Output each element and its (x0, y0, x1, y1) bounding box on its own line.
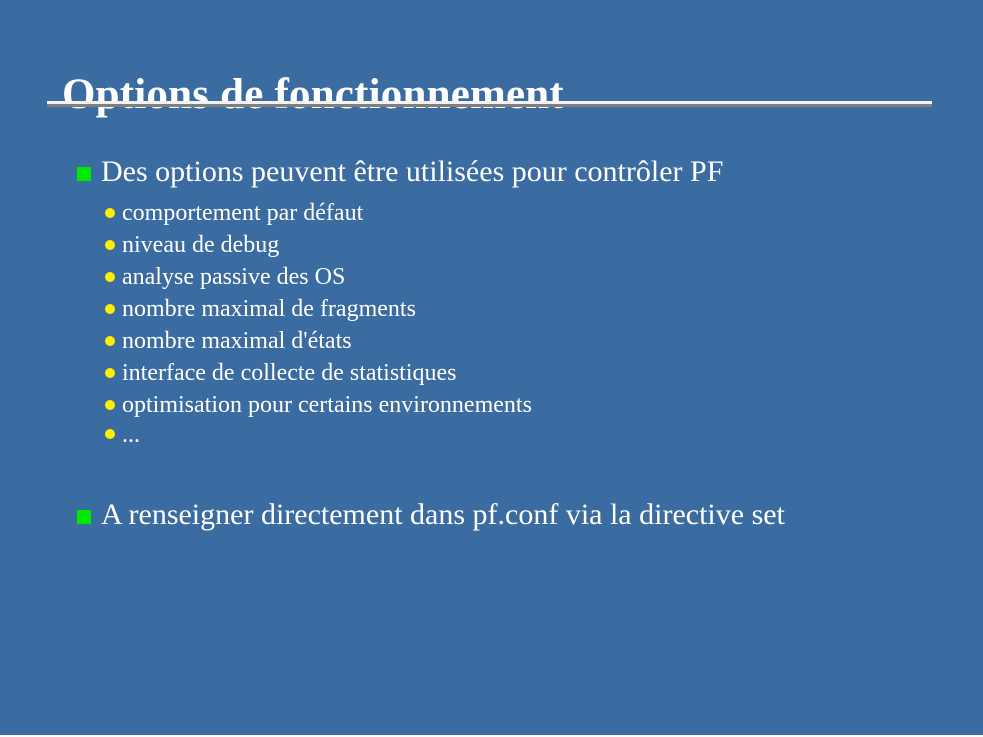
dot-bullet-icon (105, 429, 115, 439)
level2-bullet-text: nombre maximal d'états (122, 325, 983, 357)
list-item: analyse passive des OS (0, 261, 983, 293)
level2-bullet-text: ... (122, 421, 983, 449)
dot-bullet-icon (105, 240, 115, 250)
level1-bullet-item: Des options peuvent être utilisées pour … (0, 148, 983, 195)
content-block: Des options peuvent être utilisées pour … (0, 148, 983, 449)
level2-bullet-list: comportement par défaut niveau de debug … (0, 197, 983, 449)
level2-bullet-text: nombre maximal de fragments (122, 293, 983, 325)
level1-bullet-text: A renseigner directement dans pf.conf vi… (101, 491, 893, 538)
list-item: niveau de debug (0, 229, 983, 261)
list-item: nombre maximal de fragments (0, 293, 983, 325)
title-divider (47, 101, 932, 107)
dot-bullet-icon (105, 208, 115, 218)
slide: Options de fonctionnement Des options pe… (0, 0, 983, 737)
square-bullet-icon (77, 167, 91, 181)
level2-bullet-text: analyse passive des OS (122, 261, 983, 293)
dot-bullet-icon (105, 304, 115, 314)
page-title: Options de fonctionnement (62, 73, 564, 116)
square-bullet-icon (77, 510, 91, 524)
level1-bullet-text: Des options peuvent être utilisées pour … (101, 148, 893, 195)
dot-bullet-icon (105, 336, 115, 346)
level2-bullet-text: comportement par défaut (122, 197, 983, 229)
list-item: nombre maximal d'états (0, 325, 983, 357)
dot-bullet-icon (105, 400, 115, 410)
content-block: A renseigner directement dans pf.conf vi… (0, 491, 983, 538)
level1-bullet-item: A renseigner directement dans pf.conf vi… (0, 491, 983, 538)
level2-bullet-text: niveau de debug (122, 229, 983, 261)
list-item: comportement par défaut (0, 197, 983, 229)
level2-bullet-text: interface de collecte de statistiques (122, 357, 983, 389)
list-item: interface de collecte de statistiques (0, 357, 983, 389)
list-item: optimisation pour certains environnement… (0, 389, 983, 421)
level2-bullet-text: optimisation pour certains environnement… (122, 389, 983, 421)
dot-bullet-icon (105, 368, 115, 378)
slide-body: Des options peuvent être utilisées pour … (0, 148, 983, 538)
title-divider-shadow (47, 104, 932, 107)
dot-bullet-icon (105, 272, 115, 282)
list-item: ... (0, 421, 983, 449)
